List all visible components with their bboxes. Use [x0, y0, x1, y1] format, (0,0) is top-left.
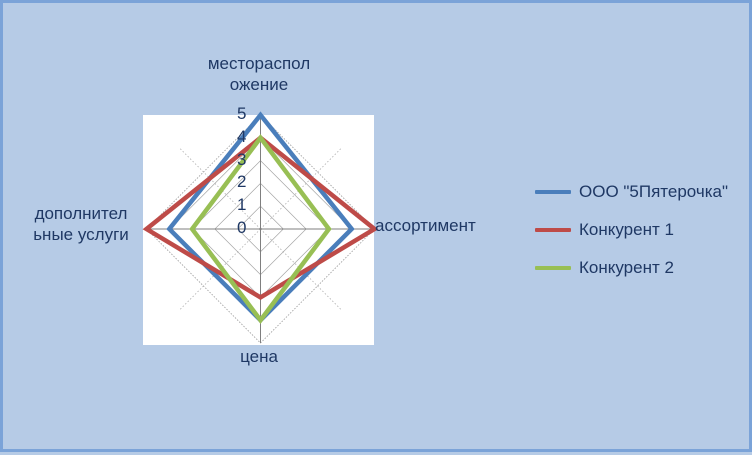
chart-frame: местораспол ожение ассортимент цена допо…: [0, 0, 752, 452]
axis-label-bottom: цена: [199, 346, 319, 367]
radar-chart: местораспол ожение ассортимент цена допо…: [3, 3, 752, 455]
radial-tick-label: 1: [225, 195, 247, 215]
legend-item[interactable]: ООО "5Пятерочка": [535, 173, 749, 211]
radial-tick-label: 2: [225, 172, 247, 192]
axis-label-top: местораспол ожение: [179, 53, 339, 95]
axis-label-left: дополнител ьные услуги: [13, 203, 149, 245]
radial-tick-label: 0: [225, 218, 247, 238]
radial-tick-label: 3: [225, 150, 247, 170]
radial-tick-label: 5: [225, 104, 247, 124]
legend-label: Конкурент 1: [579, 220, 674, 240]
legend-item[interactable]: Конкурент 1: [535, 211, 749, 249]
radial-tick-label: 4: [225, 127, 247, 147]
legend-label: ООО "5Пятерочка": [579, 182, 728, 202]
legend-color-swatch: [535, 190, 571, 194]
legend-color-swatch: [535, 266, 571, 270]
legend-color-swatch: [535, 228, 571, 232]
chart-legend: ООО "5Пятерочка"Конкурент 1Конкурент 2: [535, 173, 749, 287]
axis-label-right: ассортимент: [375, 215, 505, 236]
legend-label: Конкурент 2: [579, 258, 674, 278]
legend-item[interactable]: Конкурент 2: [535, 249, 749, 287]
